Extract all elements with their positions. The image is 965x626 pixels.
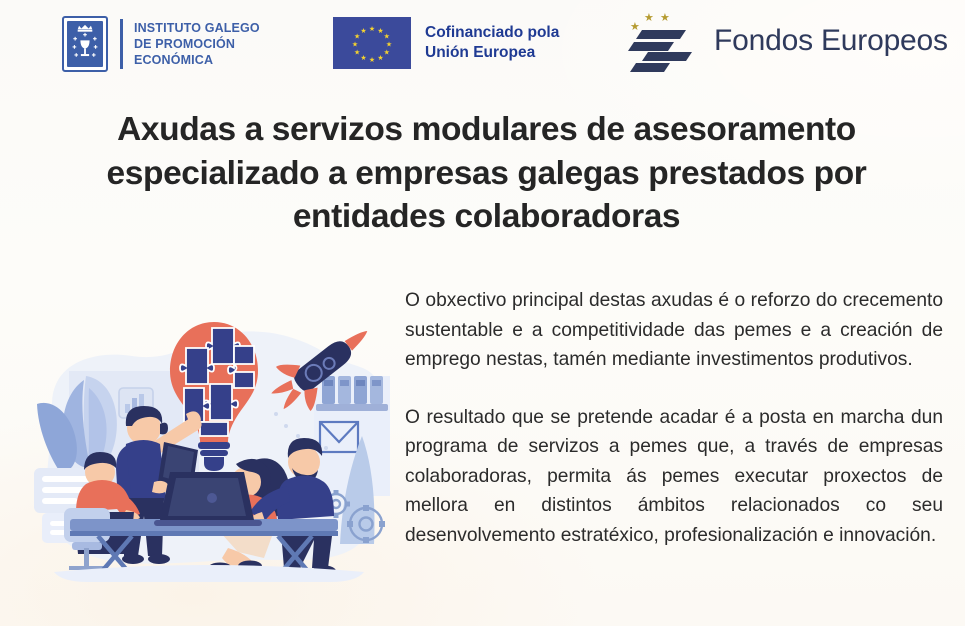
igape-divider — [120, 19, 123, 69]
title-line-3: entidades colaboradoras — [34, 195, 939, 239]
fondos-europeos-label: Fondos Europeos — [714, 24, 948, 58]
svg-text:★: ★ — [384, 49, 390, 57]
logo-bar: INSTITUTO GALEGO DE PROMOCIÓN ECONÓMICA … — [0, 0, 965, 88]
svg-text:★: ★ — [384, 33, 390, 41]
svg-text:★: ★ — [369, 25, 375, 33]
igape-wordmark: INSTITUTO GALEGO DE PROMOCIÓN ECONÓMICA — [134, 20, 260, 68]
galicia-coat-of-arms-icon — [62, 16, 108, 72]
svg-text:★: ★ — [360, 54, 366, 62]
teamwork-illustration — [14, 276, 399, 606]
svg-text:★: ★ — [369, 56, 375, 64]
content-area: O obxectivo principal destas axudas é o … — [0, 272, 965, 626]
svg-text:★: ★ — [354, 49, 360, 57]
svg-text:★: ★ — [377, 54, 383, 62]
svg-text:★: ★ — [644, 11, 654, 24]
igape-line-3: ECONÓMICA — [134, 52, 260, 68]
igape-line-2: DE PROMOCIÓN — [134, 36, 260, 52]
igape-logo: INSTITUTO GALEGO DE PROMOCIÓN ECONÓMICA — [62, 16, 260, 72]
title-line-1: Axudas a servizos modulares de asesorame… — [34, 108, 939, 152]
title-line-2: especializado a empresas galegas prestad… — [34, 152, 939, 196]
eu-line-2: Unión Europea — [425, 43, 559, 63]
poster-page: INSTITUTO GALEGO DE PROMOCIÓN ECONÓMICA … — [0, 0, 965, 626]
eu-wordmark: Cofinanciado pola Unión Europea — [425, 23, 559, 63]
fondos-europeos-bars-icon: ★ ★ ★ — [620, 8, 702, 74]
svg-text:★: ★ — [386, 41, 392, 49]
body-text-column: O obxectivo principal destas axudas é o … — [405, 286, 943, 551]
svg-text:★: ★ — [360, 27, 366, 35]
fondos-europeos-logo: ★ ★ ★ — [620, 8, 948, 74]
european-union-flag-icon: ★ ★ ★ ★ ★ ★ ★ ★ ★ ★ ★ ★ — [333, 17, 411, 69]
svg-text:★: ★ — [630, 20, 640, 33]
igape-line-1: INSTITUTO GALEGO — [134, 20, 260, 36]
eu-line-1: Cofinanciado pola — [425, 23, 559, 43]
body-paragraph-2: O resultado que se pretende acadar é a p… — [405, 403, 943, 551]
page-title: Axudas a servizos modulares de asesorame… — [34, 108, 939, 239]
svg-text:★: ★ — [352, 41, 358, 49]
body-paragraph-1: O obxectivo principal destas axudas é o … — [405, 286, 943, 375]
european-union-logo: ★ ★ ★ ★ ★ ★ ★ ★ ★ ★ ★ ★ Co — [333, 17, 559, 69]
